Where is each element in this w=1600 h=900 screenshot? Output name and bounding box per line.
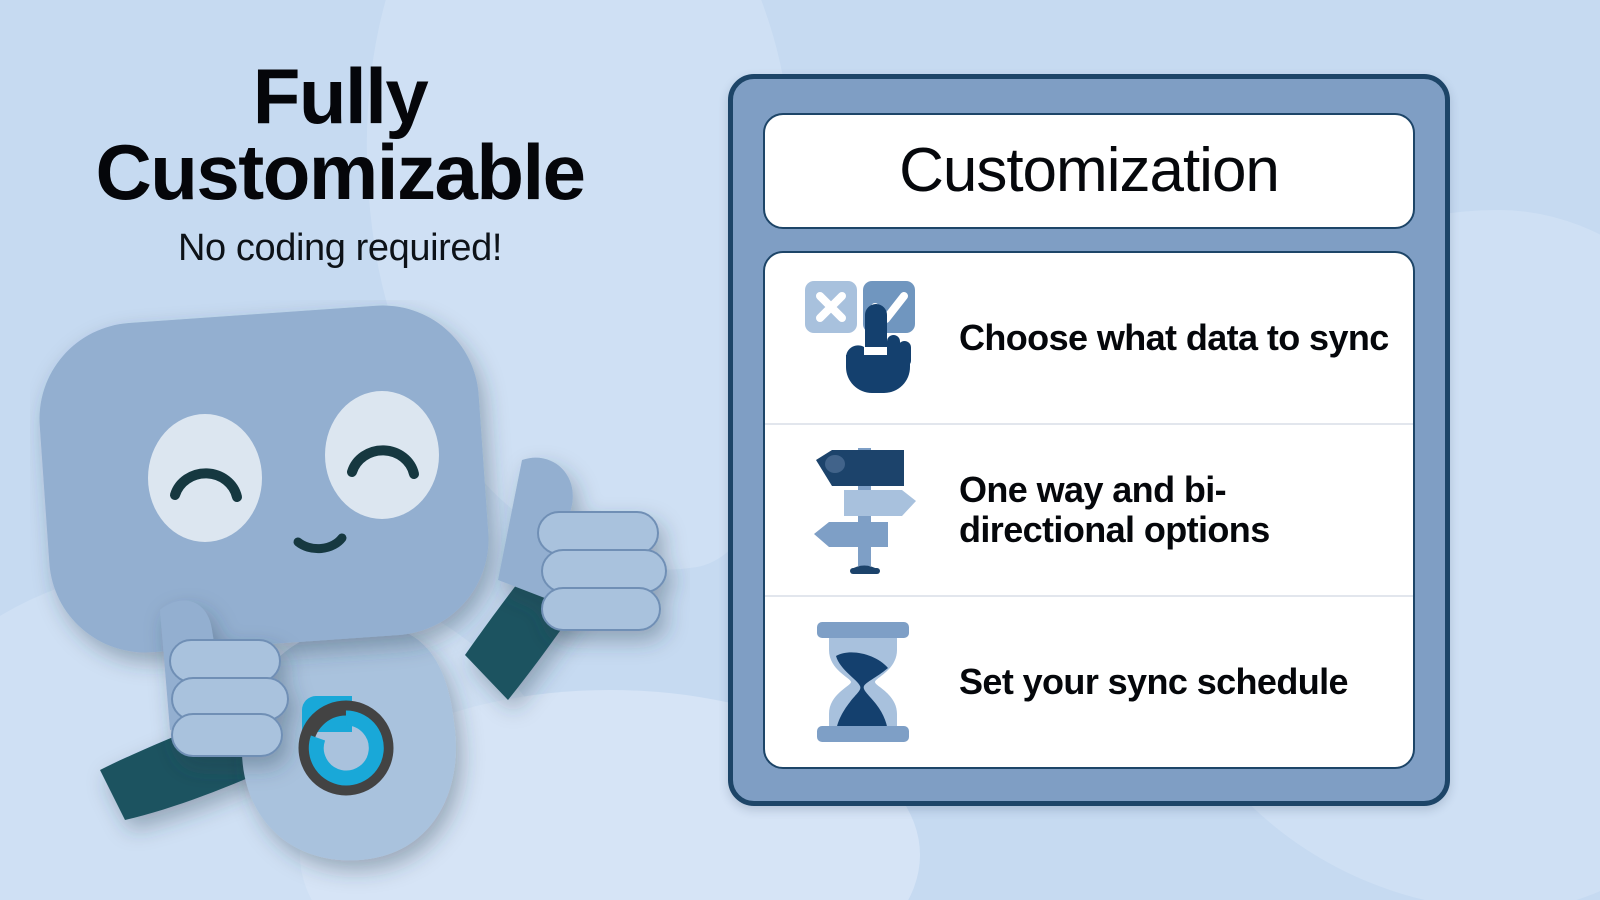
page-title-line-2: Customizable [20, 134, 660, 210]
page-title: Fully Customizable [20, 58, 660, 211]
list-item[interactable]: Choose what data to sync [765, 253, 1413, 423]
hourglass-cap-bottom [817, 726, 909, 742]
list-item-label: Set your sync schedule [933, 662, 1348, 702]
sign-arrow-right [844, 490, 916, 516]
list-item[interactable]: One way and bi-directional options [765, 423, 1413, 595]
robot-eye-left [148, 414, 262, 542]
sign-arrow-bottom-left [814, 522, 888, 547]
signpost-direction-icon [793, 444, 933, 576]
robot-head [33, 300, 495, 659]
panel-title: Customization [899, 140, 1279, 202]
list-item-label: One way and bi-directional options [933, 470, 1395, 551]
hourglass-icon [793, 612, 933, 752]
robot-eye-right [325, 391, 439, 519]
feature-list-card: Choose what data to sync One way and bi [763, 251, 1415, 769]
slide-canvas: Fully Customizable No coding required! [0, 0, 1600, 900]
hourglass-cap-top [817, 622, 909, 638]
page-subtitle: No coding required! [20, 227, 660, 270]
list-item[interactable]: Set your sync schedule [765, 595, 1413, 767]
checkbox-choice-hand-icon [793, 279, 933, 397]
customization-panel: Customization [728, 74, 1450, 806]
list-item-label: Choose what data to sync [933, 318, 1389, 358]
robot-mascot [30, 300, 690, 900]
page-title-line-1: Fully [20, 58, 660, 134]
signpost-base [850, 568, 880, 574]
hero-text-block: Fully Customizable No coding required! [20, 58, 660, 270]
panel-header-card: Customization [763, 113, 1415, 229]
